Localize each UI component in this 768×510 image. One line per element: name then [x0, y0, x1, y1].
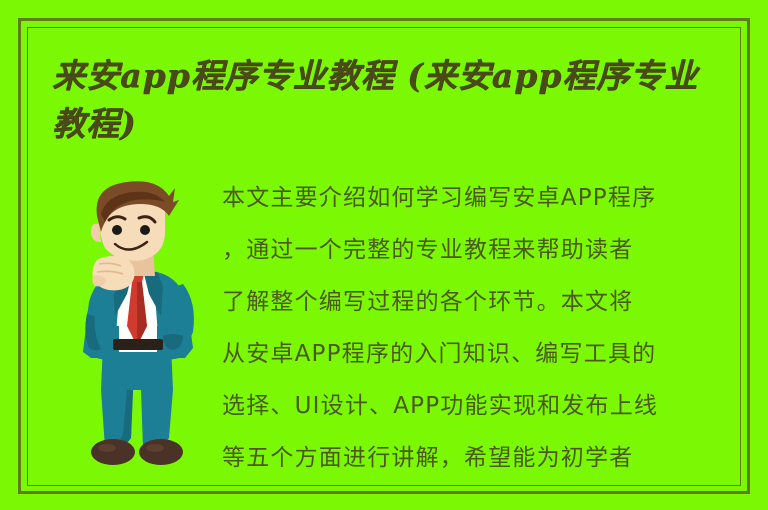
shoe-left	[91, 439, 135, 465]
eye-left	[112, 225, 122, 235]
body-line: 选择、UI设计、APP功能实现和发布上线	[222, 380, 740, 432]
body-line: ，通过一个完整的专业教程来帮助读者	[222, 224, 740, 276]
page-title: 来安app程序专业教程 (来安app程序专业教程)	[52, 52, 724, 148]
poster-canvas: 来安app程序专业教程 (来安app程序专业教程) 本文主要介绍如何学习编写安卓…	[0, 0, 768, 510]
body-line: 了解整个编写过程的各个环节。本文将	[222, 276, 740, 328]
body-line: 本文主要介绍如何学习编写安卓APP程序	[222, 172, 740, 224]
belt	[113, 339, 163, 350]
eye-right	[140, 225, 150, 235]
ear-left	[91, 224, 101, 242]
shoe-right-highlight	[146, 444, 164, 452]
body-line: 从安卓APP程序的入门知识、编写工具的	[222, 328, 740, 380]
article-body: 本文主要介绍如何学习编写安卓APP程序 ，通过一个完整的专业教程来帮助读者 了解…	[222, 172, 740, 484]
body-line: 等五个方面进行讲解，希望能为初学者	[222, 432, 740, 484]
shoe-right	[139, 439, 183, 465]
thinking-businessman-illustration	[57, 176, 217, 476]
trousers-shape	[101, 344, 173, 448]
shoe-left-highlight	[98, 444, 116, 452]
